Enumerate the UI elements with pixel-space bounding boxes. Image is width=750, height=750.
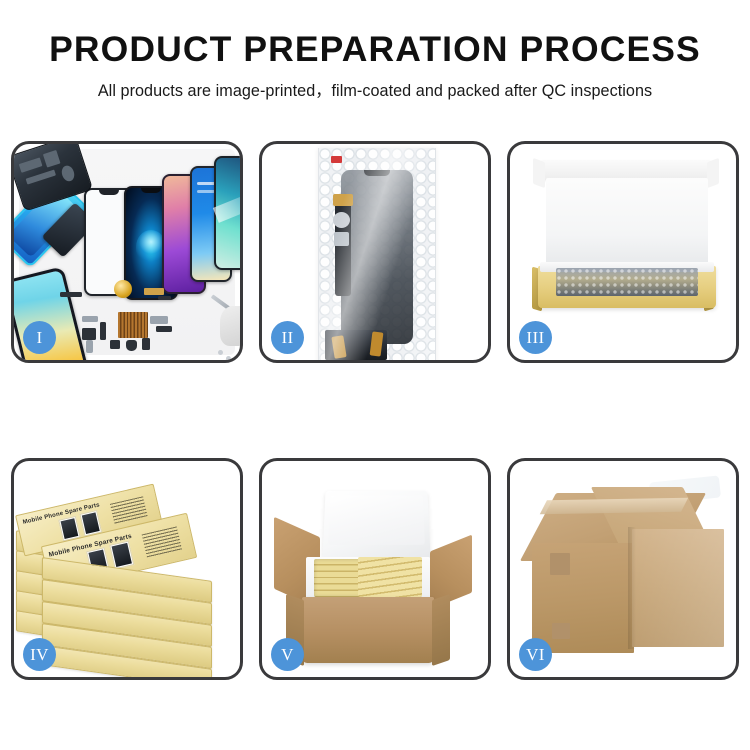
lcd-gold-connector xyxy=(370,331,384,356)
lcd-round-component xyxy=(333,212,350,228)
step-badge-4: IV xyxy=(23,638,56,671)
box-spec-lines xyxy=(142,526,182,557)
carton-edge-shadow xyxy=(628,527,636,649)
white-foam-sheet xyxy=(546,178,708,270)
part-sim-tray xyxy=(86,340,93,353)
part-strip xyxy=(100,322,106,340)
red-qc-label xyxy=(331,156,342,163)
lcd-gold-tape xyxy=(333,194,353,206)
sealing-tape xyxy=(540,498,688,514)
part-button-flex xyxy=(158,296,171,300)
tape-tab xyxy=(550,553,570,575)
bubble-wrap-bag xyxy=(318,148,436,360)
step-panel-5[interactable]: V xyxy=(259,458,491,680)
packed-contents xyxy=(556,268,698,296)
box-spec-lines xyxy=(110,496,148,525)
part-gold-coil xyxy=(114,280,132,298)
step-panel-4[interactable]: Mobile Phone Spare Parts Mobile Phone Sp… xyxy=(11,458,243,680)
step-badge-1: I xyxy=(23,321,56,354)
step-badge-6: VI xyxy=(519,638,552,671)
step-panel-1[interactable]: I xyxy=(11,141,243,363)
phone-teal-curved xyxy=(214,156,240,270)
page-subtitle: All products are image-printed，film-coat… xyxy=(0,77,750,101)
lcd-bottom-components xyxy=(325,330,387,360)
step-panel-3[interactable]: III xyxy=(507,141,739,363)
box-lid-open xyxy=(540,160,712,180)
part-flex-cable xyxy=(144,288,164,295)
hand xyxy=(220,306,240,346)
part-connector xyxy=(60,292,82,297)
lcd-gold-connector xyxy=(331,335,346,359)
part-screw xyxy=(226,356,231,360)
part-screw xyxy=(218,350,223,355)
part-speaker xyxy=(110,340,120,349)
part-ribbon xyxy=(150,316,168,324)
phone-ui-line xyxy=(197,190,215,193)
part-taptic xyxy=(126,340,137,351)
chassis-camera xyxy=(60,164,76,183)
foam-lid xyxy=(322,491,430,560)
step-badge-3: III xyxy=(519,321,552,354)
process-step-grid: I II xyxy=(11,141,739,680)
part-mesh-grid xyxy=(118,312,148,338)
page-header: PRODUCT PREPARATION PROCESS All products… xyxy=(0,0,750,101)
carton-side-face xyxy=(632,529,724,647)
chassis-chip xyxy=(26,170,56,185)
gold-boxes-packed xyxy=(358,557,422,597)
carton-front-face xyxy=(532,543,634,653)
part-ribbon xyxy=(156,326,172,332)
chassis-chip xyxy=(19,157,43,172)
box-product-image xyxy=(109,541,134,570)
step-panel-2[interactable]: II xyxy=(259,141,491,363)
part-bracket xyxy=(82,316,98,322)
step-badge-5: V xyxy=(271,638,304,671)
step-panel-6[interactable]: VI xyxy=(507,458,739,680)
carton-body xyxy=(302,597,434,663)
lcd-component xyxy=(334,232,349,246)
part-sensor xyxy=(142,338,150,350)
step-badge-2: II xyxy=(271,321,304,354)
chassis-chip xyxy=(43,150,61,168)
page-title: PRODUCT PREPARATION PROCESS xyxy=(0,31,750,68)
part-module xyxy=(82,328,96,340)
tape-tab xyxy=(552,623,570,639)
